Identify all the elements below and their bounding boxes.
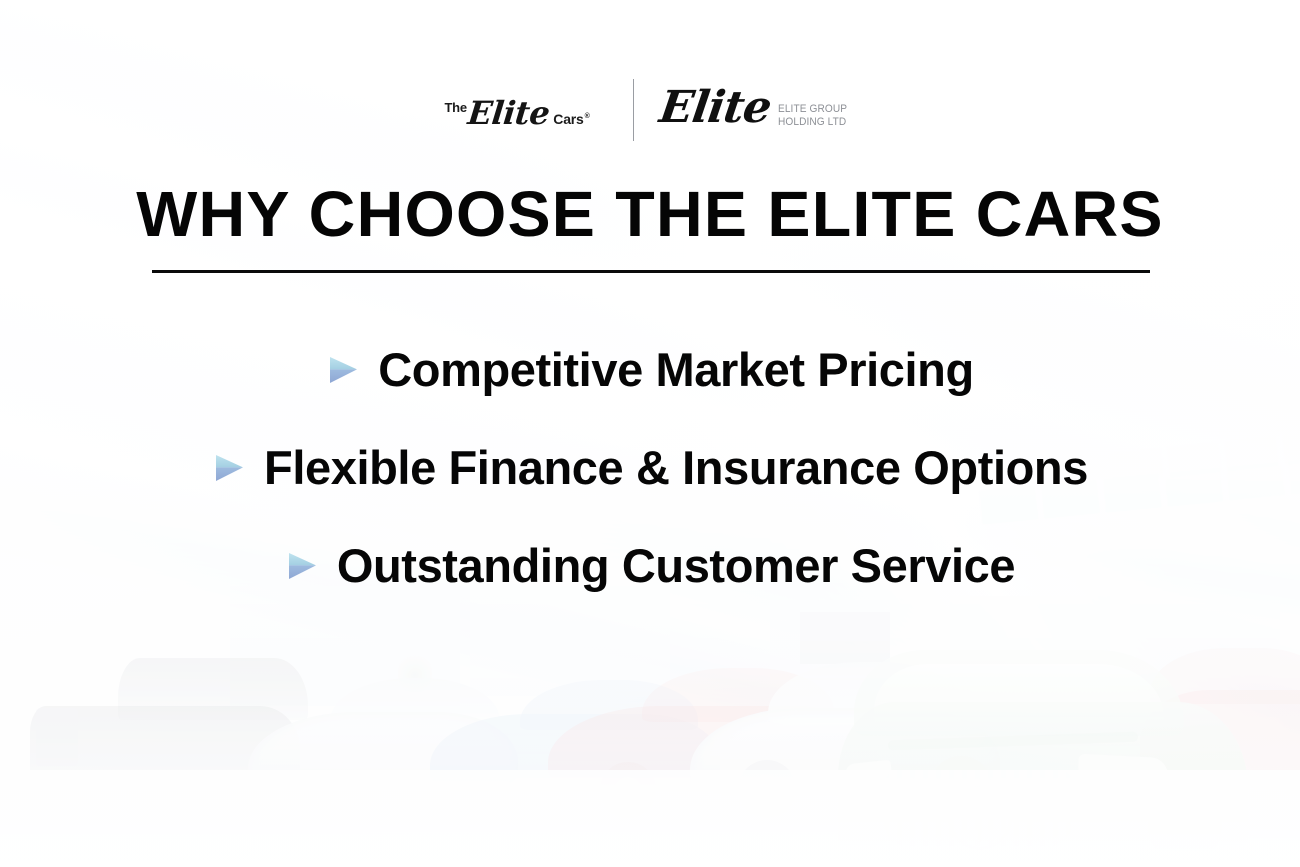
poster-canvas: The Elite Cars ® Elite ELITE GROUP HOLDI… xyxy=(0,0,1300,867)
list-item: Outstanding Customer Service xyxy=(0,516,1300,614)
logo-prefix-the: The xyxy=(444,100,467,115)
list-item: Competitive Market Pricing xyxy=(0,320,1300,418)
logo-group-wordmark: ELITE GROUP HOLDING LTD xyxy=(778,103,853,129)
logo-group-line-1: ELITE GROUP xyxy=(778,103,847,116)
logo-script-elite: Elite xyxy=(466,94,551,132)
arrow-right-icon xyxy=(285,549,319,583)
logo-script-elite-secondary: Elite xyxy=(657,86,773,130)
logo-bar: The Elite Cars ® Elite ELITE GROUP HOLDI… xyxy=(0,76,1300,144)
logo-group-line-2: HOLDING LTD xyxy=(778,116,847,129)
poster-content: The Elite Cars ® Elite ELITE GROUP HOLDI… xyxy=(0,0,1300,867)
list-item-label: Competitive Market Pricing xyxy=(378,346,974,393)
benefits-list: Competitive Market Pricing Flexible Fina… xyxy=(0,320,1300,614)
logo-suffix-cars: Cars xyxy=(553,111,583,127)
registered-trademark-icon: ® xyxy=(585,113,590,120)
page-title: WHY CHOOSE THE ELITE CARS xyxy=(0,182,1300,246)
arrow-right-icon xyxy=(326,353,360,387)
list-item-label: Outstanding Customer Service xyxy=(337,542,1015,589)
logo-elite-group-holding[interactable]: Elite ELITE GROUP HOLDING LTD xyxy=(660,88,853,132)
arrow-right-icon xyxy=(212,451,246,485)
list-item: Flexible Finance & Insurance Options xyxy=(0,418,1300,516)
logo-the-elite-cars[interactable]: The Elite Cars ® xyxy=(447,91,607,129)
logo-divider xyxy=(633,79,634,141)
title-underline-rule xyxy=(152,270,1150,273)
list-item-label: Flexible Finance & Insurance Options xyxy=(264,444,1088,491)
